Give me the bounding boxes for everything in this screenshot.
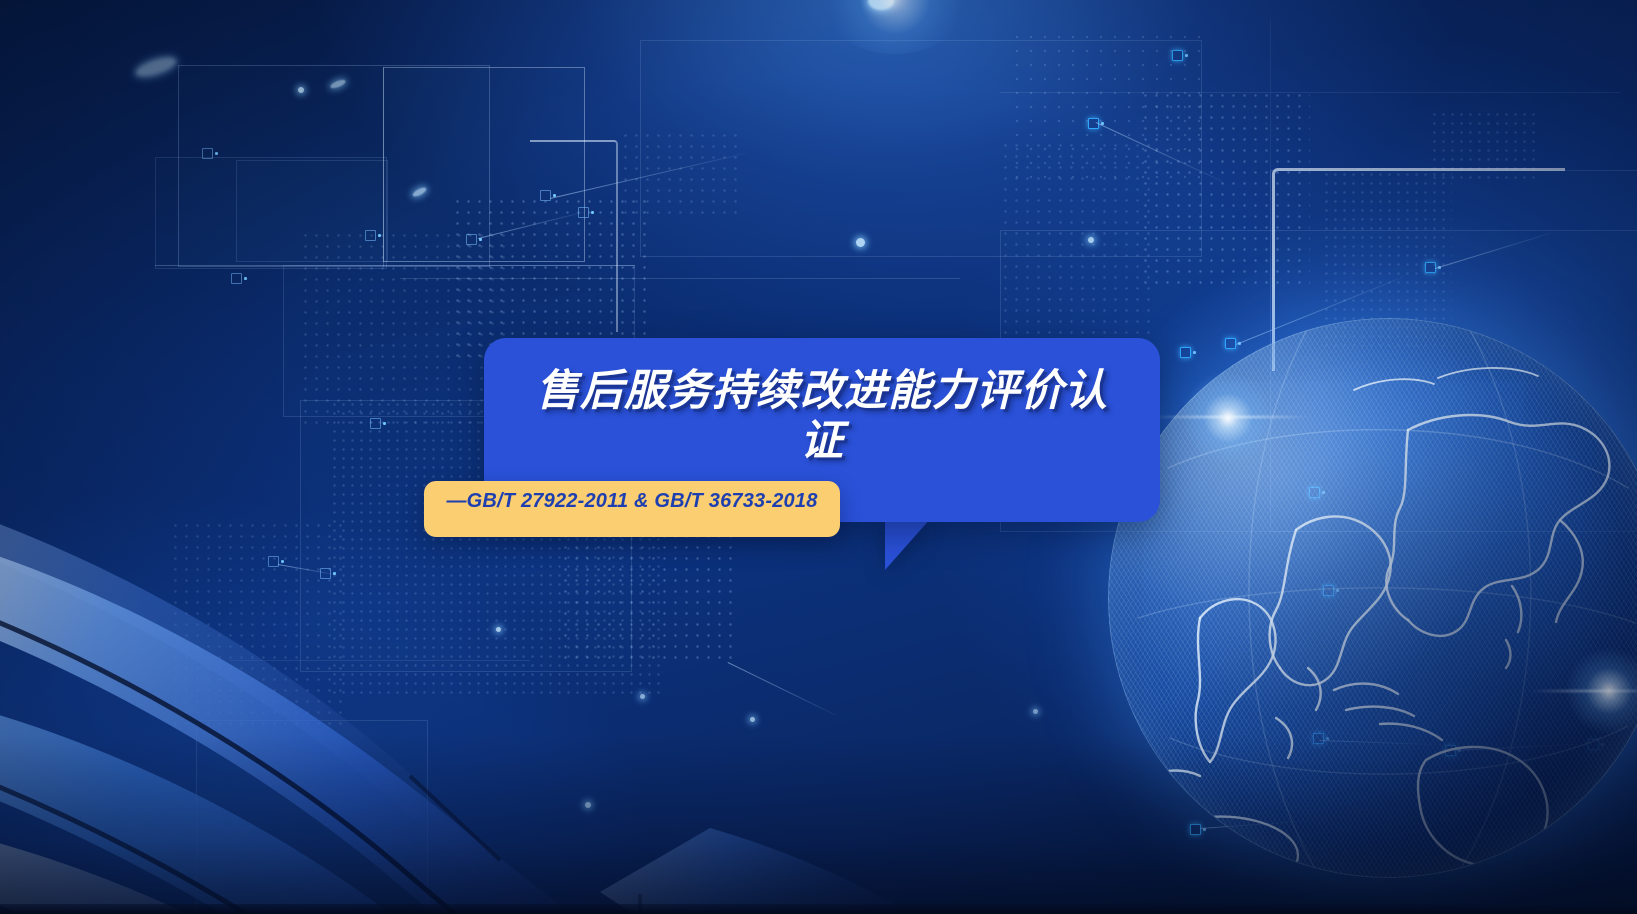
node-marker-icon	[1588, 739, 1599, 750]
wireframe-line	[383, 67, 384, 267]
page-title: 售后服务持续改进能力评价认证	[518, 366, 1126, 466]
node-marker-icon	[231, 273, 242, 284]
spark-dot	[585, 802, 591, 808]
wireframe-line	[230, 660, 530, 661]
node-marker-icon	[540, 190, 551, 201]
node-marker-icon	[466, 234, 477, 245]
subtitle-pill: —GB/T 27922-2011 & GB/T 36733-2018	[424, 481, 840, 537]
node-marker-icon	[1445, 745, 1456, 756]
spark-dot	[856, 238, 865, 247]
node-marker-icon	[1323, 585, 1334, 596]
wireframe-rect	[640, 40, 1202, 257]
node-marker-icon	[370, 418, 381, 429]
node-marker-icon	[268, 556, 279, 567]
spark-dot	[496, 627, 501, 632]
node-marker-icon	[1225, 338, 1236, 349]
corner-bracket	[1272, 168, 1565, 371]
node-marker-icon	[1313, 733, 1324, 744]
spark-dot	[298, 87, 304, 93]
corner-bracket	[530, 140, 618, 332]
node-marker-icon	[1180, 347, 1191, 358]
node-marker-icon	[365, 230, 376, 241]
spark-dot	[750, 717, 755, 722]
spark-dot	[1088, 237, 1094, 243]
spark-dot	[1033, 709, 1038, 714]
node-marker-icon	[1190, 824, 1201, 835]
bottom-edge-band	[0, 904, 1637, 914]
wireframe-line	[400, 278, 960, 279]
wireframe-rect	[196, 720, 428, 912]
spark-dot	[640, 694, 645, 699]
bubble-tail	[885, 518, 931, 570]
node-marker-icon	[1172, 50, 1183, 61]
wireframe-line	[1270, 20, 1271, 200]
node-marker-icon	[202, 148, 213, 159]
wireframe-rect	[236, 160, 388, 262]
subtitle-text: —GB/T 27922-2011 & GB/T 36733-2018	[440, 490, 824, 513]
wireframe-line	[1000, 92, 1620, 93]
slide-canvas: 售后服务持续改进能力评价认证 —GB/T 27922-2011 & GB/T 3…	[0, 0, 1637, 914]
node-marker-icon	[1309, 487, 1320, 498]
